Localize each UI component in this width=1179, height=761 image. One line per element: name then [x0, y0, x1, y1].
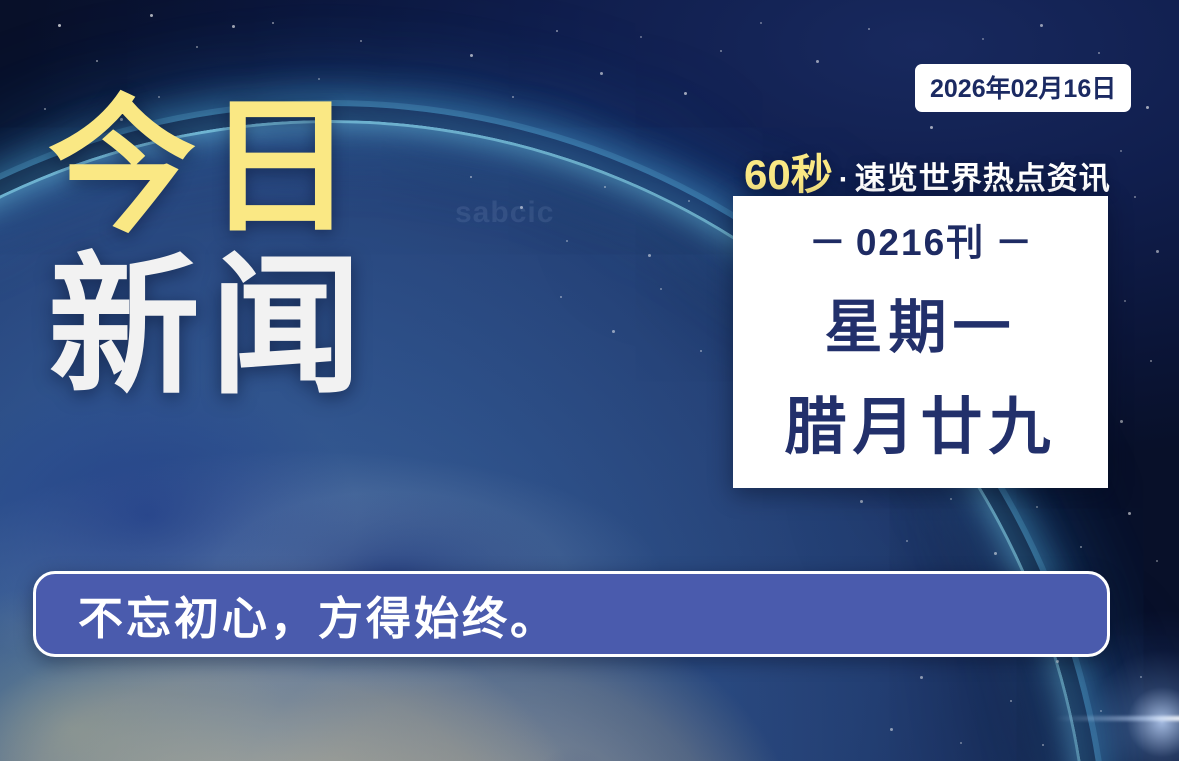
- background-watermark: sabcic: [455, 196, 554, 230]
- quote-banner: 不忘初心，方得始终。: [33, 571, 1110, 657]
- tagline-seconds: 60秒: [744, 141, 833, 202]
- lunar-date-label: 腊月廿九: [784, 376, 1056, 466]
- tagline-separator: ·: [839, 163, 849, 197]
- date-badge: 2026年02月16日: [915, 64, 1131, 112]
- poster-title: 今日 新闻: [48, 98, 468, 399]
- news-poster: sabcic 今日 新闻 2026年02月16日 60秒 · 速览世界热点资讯 …: [0, 0, 1179, 761]
- issue-number-row: －0216刊－: [799, 212, 1042, 266]
- issue-dash-left: －: [809, 222, 846, 263]
- page-title-line-1: 今日: [48, 98, 468, 239]
- lens-flare-streak: [1055, 716, 1179, 721]
- page-title-line-2: 新闻: [48, 255, 468, 399]
- issue-info-card: －0216刊－ 星期一 腊月廿九: [733, 196, 1108, 488]
- tagline-description: 速览世界热点资讯: [855, 153, 1111, 198]
- issue-number: 0216刊: [856, 222, 985, 263]
- quote-text: 不忘初心，方得始终。: [78, 582, 558, 647]
- tagline: 60秒 · 速览世界热点资讯: [744, 141, 1111, 202]
- weekday-label: 星期一: [824, 280, 1016, 364]
- issue-dash-right: －: [995, 222, 1032, 263]
